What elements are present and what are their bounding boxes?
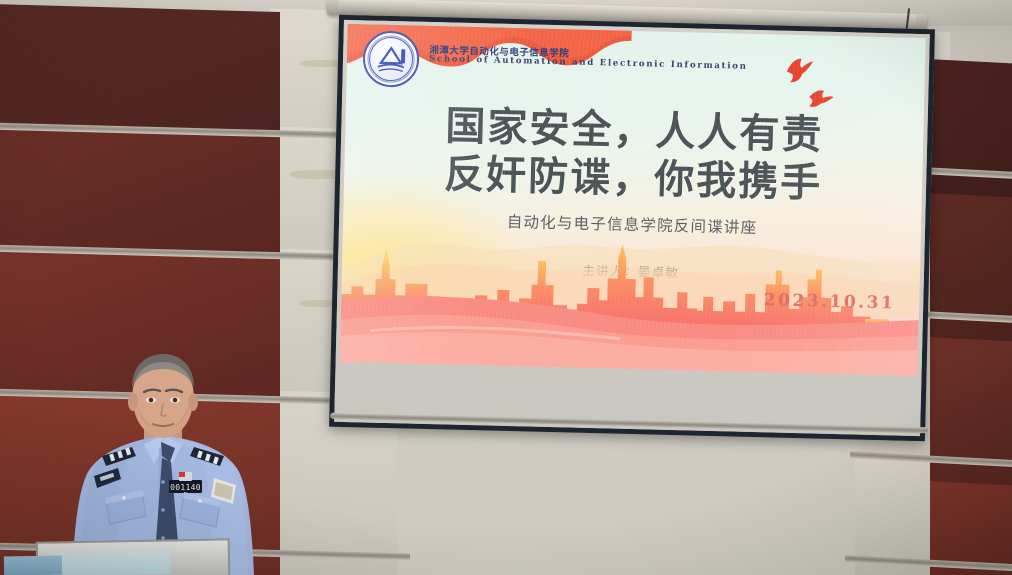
wall-panel-brown: [930, 193, 1012, 349]
university-seal-logo: [362, 30, 419, 87]
wall-panel-brown: [930, 59, 1012, 205]
presentation-slide: 湘潭大学自动化与电子信息学院 School of Automation and …: [340, 24, 926, 376]
red-dove-icon: [784, 55, 817, 84]
slide-date: 2023.10.31: [764, 290, 896, 313]
logo-emblem-icon: [362, 30, 419, 87]
red-dove-icon: [807, 86, 836, 111]
lectern-papers: [4, 555, 62, 575]
lectern-papers: [50, 551, 170, 575]
lecture-hall-photo: 湘潭大学自动化与电子信息学院 School of Automation and …: [0, 0, 1012, 575]
projection-screen[interactable]: 湘潭大学自动化与电子信息学院 School of Automation and …: [329, 15, 935, 441]
wall-panel-brown: [0, 4, 280, 140]
wall-panel-brown: [0, 122, 280, 260]
svg-text:001140: 001140: [170, 483, 201, 492]
wall-panel-brown: [930, 337, 1012, 493]
roller-end-cap: [327, 0, 338, 15]
